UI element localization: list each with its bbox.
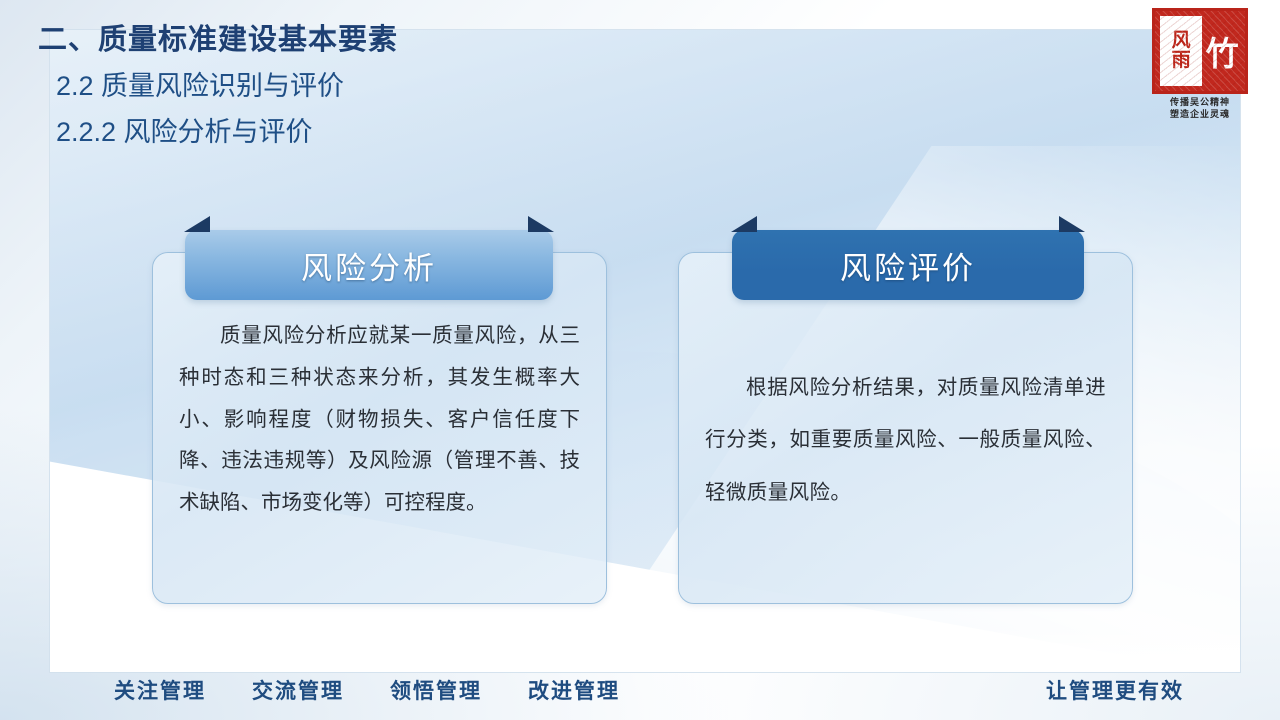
company-logo: 风 雨 竹 传播吴公精神 塑造企业灵魂	[1148, 8, 1252, 121]
footer-item-1: 关注管理	[114, 675, 206, 705]
footer-tagline: 让管理更有效	[1046, 675, 1184, 705]
logo-slogan-line-2: 塑造企业灵魂	[1148, 109, 1252, 121]
card-header-risk-evaluation: 风险评价	[732, 230, 1084, 300]
seal-char-yu: 雨	[1172, 51, 1191, 71]
card-risk-analysis: 质量风险分析应就某一质量风险，从三种时态和三种状态来分析，其发生概率大小、影响程…	[152, 252, 607, 604]
page-title: 二、质量标准建设基本要素	[38, 22, 398, 58]
heading-block: 二、质量标准建设基本要素 2.2 质量风险识别与评价 2.2.2 风险分析与评价	[38, 22, 398, 148]
section-subtitle: 2.2 质量风险识别与评价	[56, 70, 398, 102]
footer-item-3: 领悟管理	[390, 675, 482, 705]
logo-slogan: 传播吴公精神 塑造企业灵魂	[1148, 97, 1252, 121]
section-subtitle-2: 2.2.2 风险分析与评价	[56, 116, 398, 148]
slide-root: 二、质量标准建设基本要素 2.2 质量风险识别与评价 2.2.2 风险分析与评价…	[0, 0, 1280, 720]
card-body-risk-evaluation: 根据风险分析结果，对质量风险清单进行分类，如重要质量风险、一般质量风险、轻微质量…	[705, 361, 1106, 518]
logo-slogan-line-1: 传播吴公精神	[1148, 97, 1252, 109]
footer: 关注管理 交流管理 领悟管理 改进管理 让管理更有效	[0, 668, 1280, 712]
footer-item-4: 改进管理	[528, 675, 620, 705]
card-body-risk-analysis: 质量风险分析应就某一质量风险，从三种时态和三种状态来分析，其发生概率大小、影响程…	[179, 315, 580, 524]
card-title-risk-analysis: 风险分析	[301, 243, 437, 288]
card-title-risk-evaluation: 风险评价	[840, 243, 976, 288]
footer-item-list: 关注管理 交流管理 领悟管理 改进管理	[114, 675, 620, 705]
seal-stamp-icon: 风 雨 竹	[1152, 8, 1248, 94]
card-header-risk-analysis: 风险分析	[185, 230, 553, 300]
background-bottom-fade	[50, 627, 1240, 672]
seal-char-feng: 风	[1172, 31, 1191, 51]
footer-item-2: 交流管理	[252, 675, 344, 705]
card-risk-evaluation: 根据风险分析结果，对质量风险清单进行分类，如重要质量风险、一般质量风险、轻微质量…	[678, 252, 1133, 604]
seal-left-panel: 风 雨	[1160, 16, 1202, 86]
seal-char-zhu: 竹	[1204, 16, 1240, 86]
